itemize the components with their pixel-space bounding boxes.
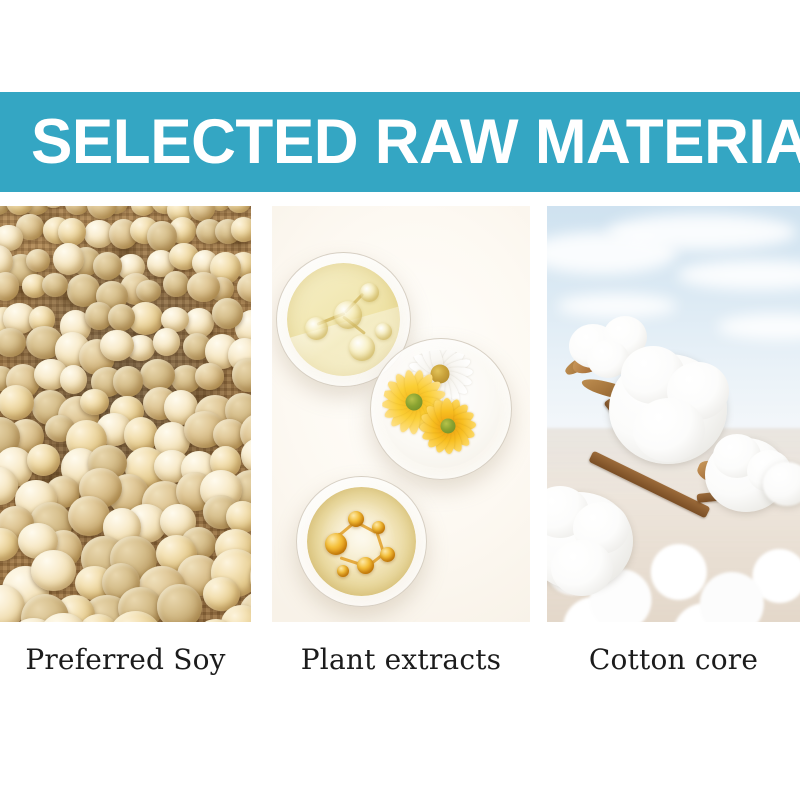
cotton-lobe — [633, 398, 705, 462]
oil-bubble — [360, 283, 379, 302]
soybean — [237, 273, 251, 302]
soybean — [0, 385, 34, 420]
soybean — [227, 206, 251, 213]
soybean — [195, 363, 224, 389]
panel-plant-extracts[interactable] — [272, 206, 530, 622]
soybean — [65, 206, 89, 215]
oil-droplet — [380, 547, 395, 562]
page-title: SELECTED RAW MATERIALS — [31, 111, 800, 174]
cloud — [677, 260, 800, 290]
petri-dish-oil-bottom — [296, 476, 427, 607]
soybean-photo — [0, 206, 251, 622]
oil-droplet — [337, 565, 349, 577]
oil-bubble — [349, 335, 375, 361]
soybean — [87, 206, 117, 219]
flower-center — [441, 419, 456, 434]
oil-bubble — [375, 323, 392, 340]
panel-captions: Preferred Soy Plant extracts Cotton core — [0, 640, 800, 700]
soybean — [250, 206, 251, 211]
raw-materials-infographic: SELECTED RAW MATERIALS — [0, 0, 800, 800]
soybean — [26, 249, 50, 272]
petri-dish-photo — [272, 206, 530, 622]
dish-contents — [287, 263, 400, 376]
material-panels — [0, 206, 800, 622]
oil-droplet — [357, 557, 374, 574]
soybean — [232, 358, 251, 391]
golden-oil-fill — [307, 487, 416, 596]
oil-bubble — [334, 301, 362, 329]
soybean — [163, 271, 189, 297]
cloud — [717, 314, 800, 340]
dish-contents — [307, 487, 416, 596]
soybean — [231, 217, 251, 241]
header-banner: SELECTED RAW MATERIALS — [0, 92, 800, 192]
soybean — [153, 328, 180, 356]
oil-droplet — [325, 533, 347, 555]
petri-dish-flowers — [370, 338, 512, 480]
caption-plant-extracts: Plant extracts — [272, 640, 530, 680]
oil-bubble — [305, 317, 328, 340]
flower-center — [406, 394, 423, 411]
soybean — [131, 206, 155, 216]
cotton-lobe — [551, 540, 613, 596]
soybean — [93, 252, 122, 279]
cloud — [607, 214, 797, 250]
soybean — [113, 366, 143, 396]
soybean — [60, 365, 88, 394]
caption-cotton-core: Cotton core — [547, 640, 800, 680]
dish-contents — [382, 350, 500, 468]
soybean — [31, 550, 76, 591]
soybean — [27, 444, 60, 476]
soybean-pile — [0, 206, 251, 622]
soybean — [136, 280, 161, 302]
soybean — [100, 330, 134, 361]
soybean — [0, 328, 26, 357]
oil-droplet — [348, 511, 364, 527]
cotton-photo — [547, 206, 800, 622]
cloud — [557, 294, 677, 318]
panel-preferred-soy[interactable] — [0, 206, 251, 622]
soybean — [80, 389, 108, 415]
panel-cotton-core[interactable] — [547, 206, 800, 622]
soybean — [58, 218, 86, 247]
caption-preferred-soy: Preferred Soy — [0, 640, 251, 680]
soybean — [108, 304, 135, 331]
flower-center — [431, 365, 450, 384]
oil-droplet — [372, 521, 385, 534]
